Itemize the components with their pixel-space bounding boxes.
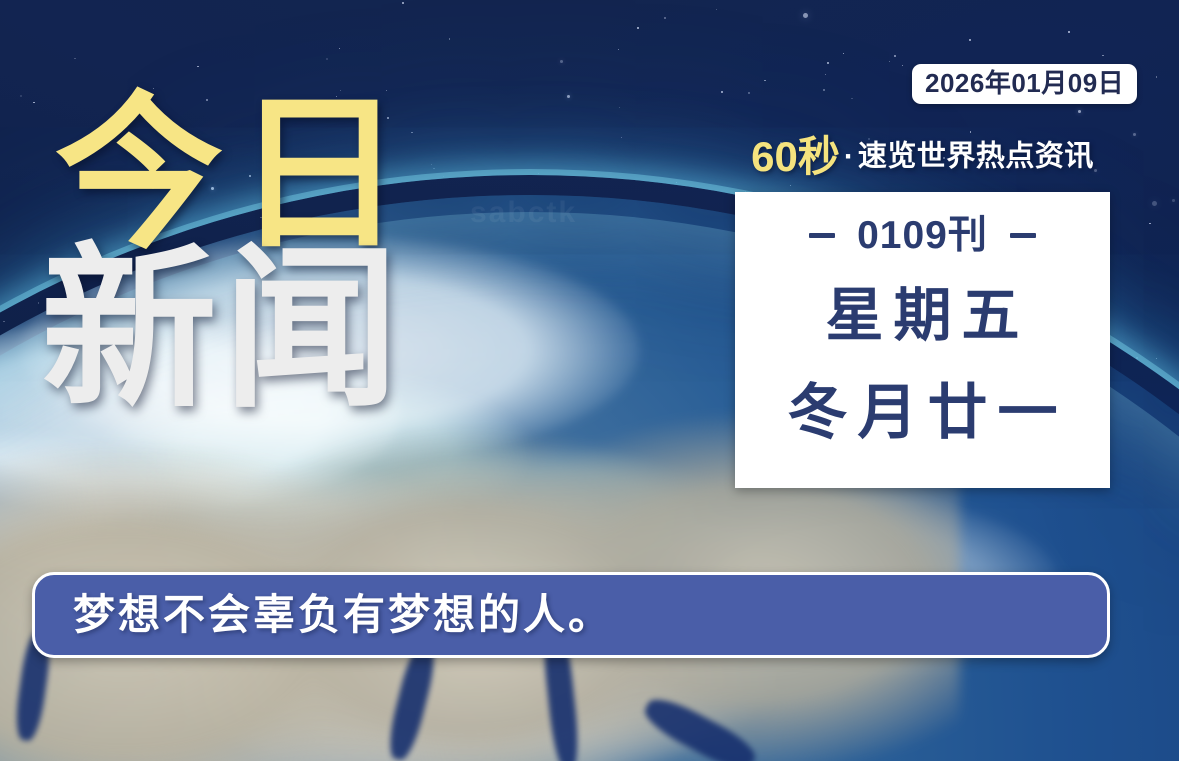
quote-bar: 梦想不会辜负有梦想的人。: [32, 572, 1110, 658]
dash-right-icon: [1010, 233, 1036, 238]
page-title: 今日 新闻: [55, 96, 415, 413]
tagline: 60秒·速览世界热点资讯: [735, 136, 1110, 178]
dash-left-icon: [809, 233, 835, 238]
tagline-description: 速览世界热点资讯: [858, 141, 1094, 173]
quote-text: 梦想不会辜负有梦想的人。: [73, 594, 613, 636]
lunar-date-label: 冬月廿一: [778, 383, 1068, 443]
weekday-label: 星期五: [815, 287, 1029, 345]
title-line-today: 今日: [55, 96, 415, 254]
issue-number: 0109刊: [857, 216, 988, 255]
issue-row: 0109刊: [809, 216, 1036, 255]
title-line-news: 新闻: [41, 248, 415, 413]
tagline-seconds: 60秒: [751, 133, 840, 180]
date-badge: 2026年01月09日: [912, 64, 1137, 104]
info-card: 0109刊 星期五 冬月廿一: [735, 192, 1110, 488]
tagline-separator: ·: [840, 140, 858, 173]
news-poster: sabctk 2026年01月09日 今日 新闻 60秒·速览世界热点资讯 01…: [0, 0, 1179, 761]
